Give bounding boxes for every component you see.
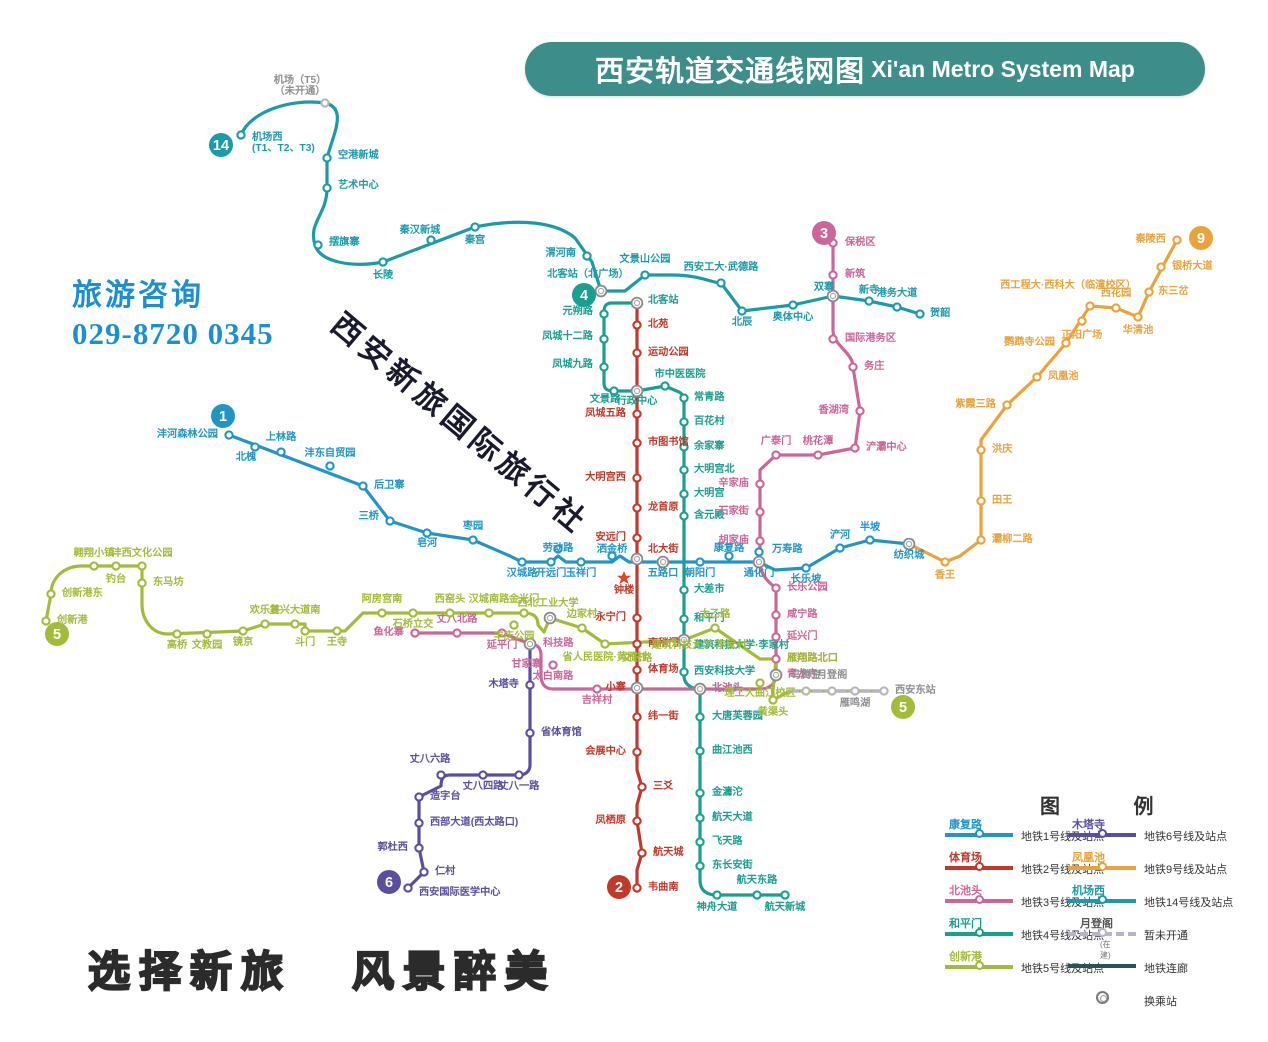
- station-label: 大明宫西: [585, 470, 626, 483]
- station-label: 余家寨: [693, 439, 725, 452]
- legend-description: 地铁连廊: [1144, 960, 1188, 976]
- station-label: 纬一街: [648, 709, 679, 722]
- tourist-info: 旅游咨询 029-8720 0345: [72, 270, 274, 352]
- legend-title: 图 例: [1040, 790, 1188, 819]
- station-label: 秦汉新城: [399, 223, 442, 236]
- station-label: 行政中心: [616, 394, 659, 407]
- station-label: 科技路: [543, 636, 574, 649]
- station-label: 三桥: [359, 509, 380, 522]
- station-label: 曲江池西: [712, 743, 753, 756]
- station-label: 咸宁路: [787, 607, 818, 620]
- station-label: 保税区: [844, 235, 876, 248]
- station-label: 西安国际医学中心: [419, 885, 501, 898]
- station-label: 小寨: [605, 680, 627, 693]
- legend-description: 地铁5号线及站点: [1021, 960, 1104, 976]
- station-label: 劳动路: [543, 541, 574, 554]
- station-label: 航天东路: [737, 873, 779, 886]
- legend-description: 地铁14号线及站点: [1144, 894, 1233, 910]
- line-badge-2[interactable]: 2: [607, 875, 631, 899]
- station-label: 万寿路: [771, 542, 803, 555]
- line-badge-4[interactable]: 4: [572, 283, 596, 307]
- map-title-cn: 西安轨道交通线网图: [595, 48, 865, 90]
- station-label: 木塔寺: [487, 677, 519, 690]
- station-label: 文教园: [191, 638, 223, 651]
- line-badge-number: 5: [899, 700, 907, 716]
- station-label: 雁翔路北口: [787, 651, 838, 664]
- station-label: 三爻: [653, 779, 674, 792]
- station-stop[interactable]: 劳动路: [543, 541, 574, 554]
- station-label: 凤城九路: [552, 357, 594, 370]
- station-label: 丈八一路: [499, 779, 541, 792]
- legend-station-dot: [975, 895, 984, 904]
- station-label: 航天新城: [765, 900, 807, 913]
- station-label: 航天大道: [712, 810, 754, 823]
- station-label: 郭杜西: [377, 840, 408, 853]
- station-transfer[interactable]: 小寨: [605, 680, 643, 693]
- map-title-en: Xi'an Metro System Map: [871, 56, 1135, 83]
- station-label: 凤栖原: [595, 813, 626, 826]
- line-badge-1[interactable]: 1: [211, 404, 235, 428]
- station-label: 新筑: [845, 267, 866, 280]
- station-label: 沣东自贸园: [305, 446, 356, 459]
- station-label: 务庄: [864, 359, 884, 372]
- station-label: 香王: [935, 568, 955, 581]
- station-label: 太白南路: [532, 669, 575, 682]
- station-label: 市中医医院: [655, 367, 707, 380]
- station-label: 东三岔: [1158, 284, 1189, 297]
- station-label: 韦曲南: [648, 880, 679, 893]
- station-label: 洒金桥: [597, 542, 628, 555]
- station-label: 造字台: [430, 789, 461, 802]
- station-label: 浐河: [830, 528, 851, 541]
- station-label: 上林路: [266, 430, 297, 443]
- station-label: 创新港东: [61, 586, 103, 599]
- station-label: 鹦鹉寺公园: [1003, 335, 1055, 348]
- station-label: 建筑科技大学·李家村: [650, 638, 747, 651]
- station-label: 汉城路: [507, 566, 538, 579]
- station-label: 斗门: [295, 635, 315, 648]
- station-label: 翱翔小镇: [74, 546, 115, 559]
- station-label: 贺韶: [929, 306, 950, 319]
- legend-description: 换乘站: [1144, 993, 1177, 1009]
- station-label: 西安东站: [895, 683, 936, 696]
- legend-description: 地铁9号线及站点: [1144, 861, 1227, 877]
- station-label: 秦宫: [464, 233, 485, 246]
- tourist-info-phone: 029-8720 0345: [72, 316, 274, 352]
- station-label: 凤城五路: [585, 406, 627, 419]
- station-label: 汉城南路: [469, 592, 511, 605]
- station-label: 阿房宫南: [362, 592, 403, 605]
- station-label: 石家街: [717, 504, 749, 517]
- station-label: 航天城: [653, 845, 684, 858]
- line-badge-number: 14: [213, 138, 229, 154]
- station-label: 月登阁: [816, 668, 848, 681]
- legend-under-construction-note: (在建): [1100, 939, 1111, 961]
- station-label: 枣园: [462, 519, 483, 532]
- line-badge-14[interactable]: 14: [209, 133, 233, 157]
- station-label: 大差市: [694, 582, 725, 595]
- station-label: 西部大道(西太路口): [430, 815, 518, 828]
- station-label: 秦陵西: [1134, 232, 1166, 245]
- station-label: 辛家庙: [718, 476, 749, 489]
- station-label: 半坡: [860, 520, 881, 533]
- station-label: 凤城十二路: [542, 329, 594, 342]
- station-label: 西北工业大学: [517, 596, 578, 609]
- station-label: 甘家寨: [511, 657, 542, 670]
- station-label: 浐灞中心: [866, 440, 908, 453]
- line-badge-5[interactable]: 5: [891, 695, 915, 719]
- station-label: 金滽沱: [711, 785, 743, 798]
- station-label: 市图书馆: [648, 435, 689, 448]
- station-label: 百花村: [694, 414, 725, 427]
- station-label: 常青路: [694, 390, 725, 403]
- legend-description: 暂未开通: [1144, 927, 1188, 943]
- station-label: 丈八六路: [410, 752, 452, 765]
- station-label: 安远门: [595, 530, 626, 543]
- station-label: 元朔路: [562, 304, 593, 317]
- legend-sample-station: 月登阁: [1080, 915, 1113, 931]
- legend-description: 地铁6号线及站点: [1144, 828, 1227, 844]
- station-label: 东长安街: [712, 858, 753, 871]
- station-transfer[interactable]: 建筑科技大学·李家村: [650, 638, 747, 651]
- station-label: 西安科技大学: [694, 664, 755, 677]
- station-label: 东马坊: [153, 575, 184, 588]
- station-label: 田王: [992, 494, 1012, 506]
- line-badge-number: 5: [53, 627, 61, 643]
- station-label: 凤凰池: [1048, 369, 1079, 382]
- station-label: 北苑: [648, 317, 669, 330]
- legend-station-dot: [975, 829, 984, 838]
- station-label: 胡家庙: [718, 533, 749, 546]
- line-badge-3[interactable]: 3: [812, 221, 836, 245]
- station-label: 丈八四路: [463, 779, 505, 792]
- station-stop[interactable]: 文艺路: [621, 651, 653, 664]
- legend-transfer-icon: [1096, 991, 1109, 1004]
- station-label: 银桥大道: [1172, 259, 1214, 272]
- station-stop[interactable]: 雁翔路北口: [787, 651, 838, 664]
- station-label: 桃花潭: [803, 434, 834, 447]
- station-label: 玉祥门: [566, 566, 597, 579]
- line-badge-number: 1: [219, 409, 227, 425]
- map-title-banner: 西安轨道交通线网图 Xi'an Metro System Map: [525, 42, 1205, 96]
- station-label: 皂河: [417, 536, 438, 549]
- line-badge-number: 9: [1197, 231, 1205, 247]
- legend-station-dot: [1098, 928, 1107, 937]
- station-label: 广泰门: [761, 434, 792, 447]
- station-label: 省体育馆: [540, 725, 582, 738]
- station-label: 太乙路: [699, 607, 731, 620]
- station-label: 丈八北路: [437, 612, 479, 625]
- station-label: 大明宫北: [694, 462, 736, 475]
- station-label: 大唐芙蓉园: [712, 709, 763, 722]
- station-label: 长陵: [373, 268, 394, 281]
- slogan-left: 选择新旅: [88, 938, 292, 999]
- station-label: 黄渠头: [758, 705, 789, 718]
- station-label: 钓台: [106, 572, 126, 585]
- line-badge-number: 6: [385, 875, 393, 891]
- station-label: 空港新城: [338, 148, 380, 161]
- line-badge-6[interactable]: 6: [377, 870, 401, 894]
- station-label: 边家村: [566, 607, 598, 620]
- station-label: 丰庆公园: [494, 629, 535, 642]
- line-badge-number: 2: [615, 880, 623, 896]
- station-label: 雁鸣湖: [840, 696, 871, 709]
- legend-station-dot: [1098, 895, 1107, 904]
- station-label: 永宁门: [594, 610, 626, 623]
- station-label: 文景山公园: [619, 252, 671, 265]
- line-badge-number: 3: [820, 226, 828, 242]
- station-label: 北槐: [236, 450, 257, 463]
- station-label: 港务大道: [877, 286, 919, 299]
- station-stop[interactable]: 甘家寨: [511, 657, 542, 670]
- station-label: 灞柳二路: [992, 532, 1034, 545]
- station-label: 沣西文化公园: [111, 546, 172, 559]
- station-label: 开远门: [536, 566, 567, 579]
- legend-corridor-bar: [1068, 964, 1136, 968]
- station-label: 长乐公园: [787, 580, 828, 593]
- line-badge-5[interactable]: 5: [45, 622, 69, 646]
- station-label: 北大街: [648, 542, 679, 555]
- station-label: 五路口: [648, 566, 679, 579]
- station-label: 后卫寨: [374, 478, 405, 491]
- station-label: 仁村: [435, 864, 456, 877]
- slogan-right: 风景醉美: [352, 938, 556, 999]
- station-label: 飞天路: [712, 834, 743, 847]
- station-label: 摆旗寨: [329, 235, 360, 248]
- station-label: 北客站: [648, 293, 679, 306]
- station-label: 香湖湾: [818, 403, 849, 416]
- station-label: 理工大曲江校区: [724, 686, 795, 699]
- station-label: 奥体中心: [772, 310, 815, 323]
- station-label: 渭河南: [545, 246, 576, 259]
- station-label: 文艺路: [621, 651, 653, 664]
- station-label: 钟楼: [614, 583, 635, 596]
- station-label: 复兴大道南: [269, 603, 321, 616]
- legend-station-dot: [975, 928, 984, 937]
- station-label: 运动公园: [648, 345, 689, 358]
- station-label: 机场（T5）（未开通）: [274, 73, 327, 97]
- tourist-info-label: 旅游咨询: [72, 270, 274, 314]
- station-label: 北客站（北广场）: [547, 267, 629, 280]
- station-label: 国际港务区: [845, 331, 896, 344]
- station-label: 紫霞三路: [955, 397, 997, 410]
- station-label: 朝阳门: [685, 566, 716, 579]
- legend-station-dot: [1098, 829, 1107, 838]
- station-label: 神舟大道: [697, 900, 739, 913]
- station-label: 通化门: [744, 566, 775, 579]
- legend-station-dot: [975, 862, 984, 871]
- station-label: 洪庆: [992, 442, 1013, 455]
- station-label: 艺术中心: [338, 178, 380, 191]
- station-label: 西安工大·武德路: [684, 260, 760, 273]
- station-stop[interactable]: 西部大道(西太路口): [415, 815, 518, 828]
- station-label: 龙首原: [647, 500, 679, 513]
- station-label: 延兴门: [786, 629, 818, 642]
- station-label: 高桥: [167, 638, 188, 651]
- station-label: 西窑头: [435, 592, 466, 605]
- line-badge-9[interactable]: 9: [1189, 226, 1213, 250]
- station-label: 北辰: [732, 315, 753, 328]
- station-label: 纺织城: [894, 548, 925, 561]
- station-label: 西工程大·西科大（临潼校区）: [1000, 278, 1136, 291]
- station-label: 沣河森林公园: [157, 427, 218, 440]
- station-label: 吉祥村: [582, 693, 613, 706]
- station-label: 石桥立交: [392, 617, 435, 630]
- legend-station-dot: [1098, 862, 1107, 871]
- station-label: 镜京: [233, 635, 253, 648]
- line-badge-number: 4: [580, 288, 588, 304]
- station-label: 王寺: [327, 635, 347, 648]
- station-label: 会展中心: [585, 744, 627, 757]
- station-stop[interactable]: 西安国际医学中心: [404, 884, 501, 898]
- legend-station-dot: [975, 961, 984, 970]
- station-label: 体育场: [648, 662, 679, 675]
- station-label: 双寨: [813, 280, 835, 293]
- station-label: 华清池: [1123, 323, 1154, 336]
